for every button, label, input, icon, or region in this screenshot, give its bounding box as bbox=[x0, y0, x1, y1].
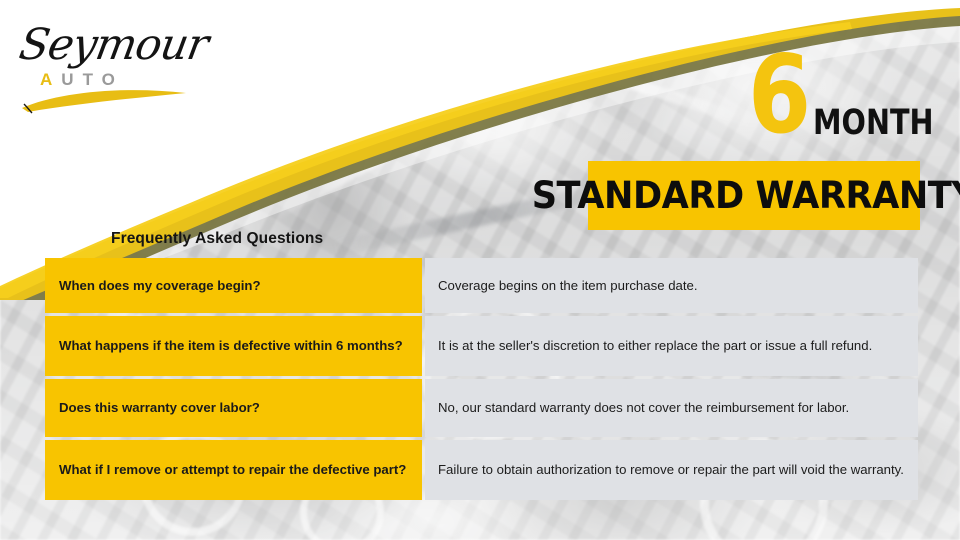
table-row: What happens if the item is defective wi… bbox=[45, 316, 918, 376]
faq-question-cell: When does my coverage begin? bbox=[45, 258, 422, 313]
faq-question-text: What happens if the item is defective wi… bbox=[59, 337, 403, 354]
faq-question-text: What if I remove or attempt to repair th… bbox=[59, 461, 406, 478]
logo-sub-wordmark: AUTO bbox=[40, 70, 124, 90]
table-row: What if I remove or attempt to repair th… bbox=[45, 440, 918, 500]
logo: Seymour AUTO bbox=[14, 14, 204, 106]
logo-sub-letter-o: O bbox=[102, 70, 124, 89]
standard-warranty-banner: STANDARD WARRANTY bbox=[588, 161, 920, 230]
table-row: Does this warranty cover labor? No, our … bbox=[45, 379, 918, 437]
faq-answer-text: It is at the seller's discretion to eith… bbox=[438, 337, 904, 354]
logo-sub-letter-u: U bbox=[61, 70, 82, 89]
standard-warranty-banner-text: STANDARD WARRANTY bbox=[532, 174, 960, 217]
logo-sub-letter-t: T bbox=[83, 70, 102, 89]
duration-number: 6 bbox=[748, 42, 809, 150]
faq-question-text: When does my coverage begin? bbox=[59, 277, 261, 294]
faq-answer-cell: Failure to obtain authorization to remov… bbox=[425, 440, 918, 500]
faq-answer-text: Failure to obtain authorization to remov… bbox=[438, 461, 904, 478]
faq-heading: Frequently Asked Questions bbox=[111, 230, 323, 248]
faq-answer-text: Coverage begins on the item purchase dat… bbox=[438, 277, 904, 294]
faq-question-text: Does this warranty cover labor? bbox=[59, 399, 260, 416]
faq-question-cell: What happens if the item is defective wi… bbox=[45, 316, 422, 376]
faq-table: When does my coverage begin? Coverage be… bbox=[45, 258, 918, 500]
faq-answer-cell: Coverage begins on the item purchase dat… bbox=[425, 258, 918, 313]
faq-question-cell: Does this warranty cover labor? bbox=[45, 379, 422, 437]
logo-sub-letter-a: A bbox=[40, 70, 61, 89]
duration-unit: MONTH bbox=[813, 106, 934, 141]
faq-answer-cell: It is at the seller's discretion to eith… bbox=[425, 316, 918, 376]
faq-question-cell: What if I remove or attempt to repair th… bbox=[45, 440, 422, 500]
table-row: When does my coverage begin? Coverage be… bbox=[45, 258, 918, 313]
logo-wordmark: Seymour bbox=[16, 20, 212, 70]
warranty-slide: Seymour AUTO 6 MONTH STANDARD WARRANTY F… bbox=[0, 0, 960, 540]
faq-answer-cell: No, our standard warranty does not cover… bbox=[425, 379, 918, 437]
faq-answer-text: No, our standard warranty does not cover… bbox=[438, 399, 904, 416]
